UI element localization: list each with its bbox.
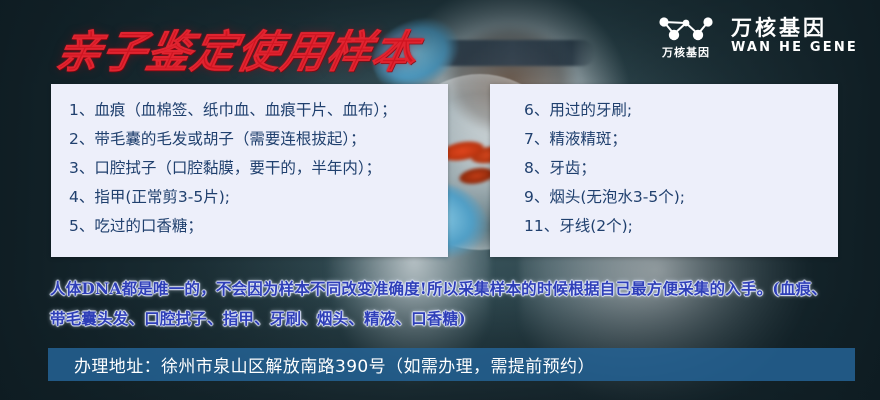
page-title: 亲子鉴定使用样本 — [51, 16, 425, 80]
sample-list-left: 1、血痕（血棉签、纸巾血、血痕干片、血布）； 2、带毛囊的毛发或胡子（需要连根拔… — [69, 96, 434, 241]
dna-note-text: 人体DNA都是唯一的，不会因为样本不同改变准确度!所以采集样本的时候根据自己最方… — [50, 274, 840, 334]
list-item: 3、口腔拭子（口腔黏膜，要干的，半年内）； — [69, 154, 434, 183]
list-item: 1、血痕（血棉签、纸巾血、血痕干片、血布）； — [69, 96, 434, 125]
address-bar-text: 办理地址：徐州市泉山区解放南路390号（如需办理，需提前预约） — [74, 352, 595, 377]
sample-list-panel-right: 6、用过的牙刷; 7、精液精斑； 8、牙齿； 9、烟头(无泡水3-5个); 11… — [490, 84, 838, 257]
list-item: 8、牙齿； — [508, 154, 824, 183]
list-item: 6、用过的牙刷; — [508, 96, 824, 125]
list-item: 11、牙线(2个); — [508, 212, 824, 241]
list-item: 2、带毛囊的毛发或胡子（需要连根拔起）； — [69, 125, 434, 154]
logo-mark: 万核基因 — [657, 14, 715, 58]
brand-logo: 万核基因 万核基因 WAN HE GENE — [657, 14, 858, 58]
logo-name-cn: 万核基因 — [731, 16, 858, 40]
address-bar: 办理地址：徐州市泉山区解放南路390号（如需办理，需提前预约） — [48, 348, 855, 381]
list-item: 4、指甲(正常剪3-5片); — [69, 183, 434, 212]
molecule-icon — [657, 14, 715, 44]
list-item: 9、烟头(无泡水3-5个); — [508, 183, 824, 212]
list-item: 7、精液精斑； — [508, 125, 824, 154]
list-item: 5、吃过的口香糖； — [69, 212, 434, 241]
logo-name-en: WAN HE GENE — [731, 40, 858, 56]
poster-canvas: 亲子鉴定使用样本 — [0, 0, 880, 400]
logo-wordmark: 万核基因 WAN HE GENE — [731, 16, 858, 56]
sample-list-right: 6、用过的牙刷; 7、精液精斑； 8、牙齿； 9、烟头(无泡水3-5个); 11… — [508, 96, 824, 241]
logo-mark-label: 万核基因 — [662, 47, 710, 58]
sample-list-panel-left: 1、血痕（血棉签、纸巾血、血痕干片、血布）； 2、带毛囊的毛发或胡子（需要连根拔… — [51, 84, 448, 257]
